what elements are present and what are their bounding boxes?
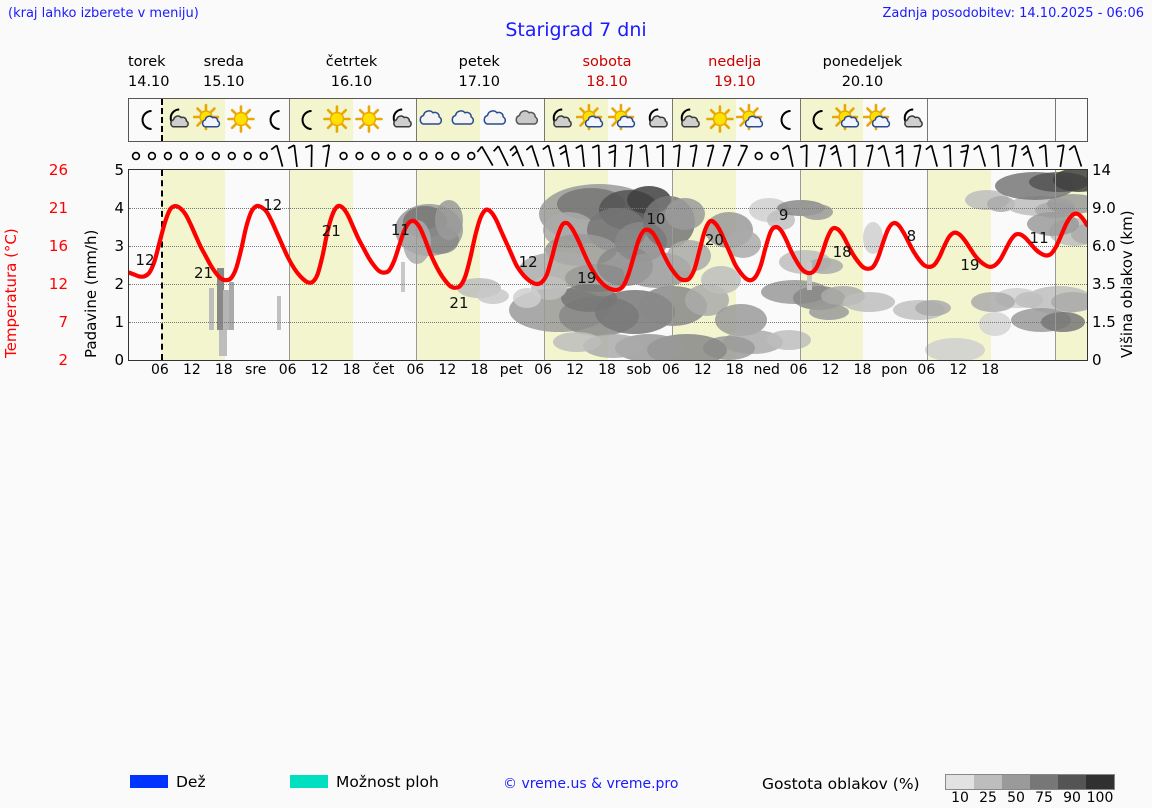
weather-icon-cell xyxy=(895,99,927,141)
temperature-max-label: 18 xyxy=(833,243,852,261)
time-tick-label: sob xyxy=(627,362,652,378)
page-title: Starigrad 7 dni xyxy=(0,19,1152,41)
sun-icon xyxy=(321,99,353,141)
day-header-ponedeljek: ponedeljek20.10 xyxy=(799,52,927,96)
sun-cloud-icon xyxy=(576,99,608,141)
temperature-tick: 2 xyxy=(58,351,68,369)
sun-icon xyxy=(353,99,385,141)
weather-icon-cell xyxy=(832,99,864,141)
weather-icon-cell xyxy=(480,99,512,141)
day-header-četrtek: četrtek16.10 xyxy=(288,52,416,96)
cloud-density-tick: 100 xyxy=(1087,790,1114,806)
time-tick-label: 18 xyxy=(215,362,233,378)
time-tick-label: 12 xyxy=(949,362,967,378)
day-name: petek xyxy=(415,52,543,72)
moon-icon xyxy=(768,99,800,141)
temperature-tick: 7 xyxy=(58,313,68,331)
time-tick-label: 18 xyxy=(343,362,361,378)
time-tick-label: 06 xyxy=(790,362,808,378)
day-header-sreda: sreda15.10 xyxy=(160,52,288,96)
moon-icon xyxy=(800,99,832,141)
day-date: 17.10 xyxy=(415,72,543,92)
precipitation-axis-ticks: 543210 xyxy=(104,169,124,361)
time-tick-label: 12 xyxy=(311,362,329,378)
moon-icon xyxy=(289,99,321,141)
time-tick-label: 18 xyxy=(726,362,744,378)
sun-cloud-icon xyxy=(863,99,895,141)
weather-icon-cell xyxy=(863,99,895,141)
weather-icon-cell xyxy=(353,99,385,141)
precipitation-tick: 0 xyxy=(114,351,124,369)
weather-icon-cell xyxy=(640,99,672,141)
time-tick-label: 06 xyxy=(917,362,935,378)
rain-legend-label: Dež xyxy=(176,773,206,791)
temperature-max-label: 21 xyxy=(194,264,213,282)
temperature-max-label: 21 xyxy=(449,294,468,312)
temperature-tick: 21 xyxy=(49,199,68,217)
time-tick-label: 12 xyxy=(566,362,584,378)
cloud-icon xyxy=(480,99,512,141)
day-date: 19.10 xyxy=(671,72,799,92)
cloud-icon xyxy=(416,99,448,141)
temperature-min-label: 10 xyxy=(646,210,665,228)
precipitation-axis-title: Padavine (mm/h) xyxy=(82,172,100,358)
temperature-min-label: 8 xyxy=(907,227,917,245)
weather-icon-cell xyxy=(736,99,768,141)
precipitation-tick: 5 xyxy=(114,161,124,179)
time-tick-label: 18 xyxy=(598,362,616,378)
moon-cloud-icon xyxy=(640,99,672,141)
cloud-density-tick: 50 xyxy=(1007,790,1025,806)
day-header-band: torek14.10sreda15.10četrtek16.10petek17.… xyxy=(128,52,1088,96)
temperature-min-label: 9 xyxy=(779,206,789,224)
cloud-density-tick: 75 xyxy=(1035,790,1053,806)
cloud-density-legend-title: Gostota oblakov (%) xyxy=(762,775,920,793)
temperature-min-label: 11 xyxy=(1030,229,1049,247)
moon-cloud-icon xyxy=(544,99,576,141)
cloud-height-tick: 1.5 xyxy=(1092,313,1116,331)
cloud-density-swatch xyxy=(974,775,1002,789)
day-name: sreda xyxy=(160,52,288,72)
day-name: četrtek xyxy=(288,52,416,72)
showers-legend-label: Možnost ploh xyxy=(336,773,439,791)
day-separator xyxy=(1055,99,1056,141)
cloud-density-tick: 10 xyxy=(951,790,969,806)
precipitation-tick: 3 xyxy=(114,237,124,255)
time-tick-label: 06 xyxy=(406,362,424,378)
day-header-petek: petek17.10 xyxy=(415,52,543,96)
legend: Dež Možnost ploh © vreme.us & vreme.pro … xyxy=(0,386,1152,436)
temperature-tick: 26 xyxy=(49,161,68,179)
precipitation-tick: 1 xyxy=(114,313,124,331)
moon-icon xyxy=(257,99,289,141)
day-separator xyxy=(416,99,417,141)
weather-icon-cell xyxy=(768,99,800,141)
day-date: 15.10 xyxy=(160,72,288,92)
time-tick-label: 06 xyxy=(279,362,297,378)
cloud-density-tick: 90 xyxy=(1063,790,1081,806)
day-date: 16.10 xyxy=(288,72,416,92)
weather-forecast-chart: (kraj lahko izberete v meniju) Starigrad… xyxy=(0,0,1152,443)
time-tick-label: 12 xyxy=(438,362,456,378)
cloud-height-tick: 0 xyxy=(1092,351,1102,369)
cloud-density-color-ramp xyxy=(945,774,1115,790)
temperature-max-label: 19 xyxy=(577,269,596,287)
temperature-min-label: 11 xyxy=(391,221,410,239)
day-separator xyxy=(927,99,928,141)
time-tick-label: sre xyxy=(245,362,266,378)
weather-icon-cell xyxy=(321,99,353,141)
temperature-tick: 16 xyxy=(49,237,68,255)
weather-icon-cell xyxy=(608,99,640,141)
weather-icon-cell xyxy=(416,99,448,141)
day-name: nedelja xyxy=(671,52,799,72)
temperature-axis-ticks: 2621161272 xyxy=(28,169,68,361)
day-date: 14.10 xyxy=(128,72,160,92)
precipitation-tick: 4 xyxy=(114,199,124,217)
weather-icon-band xyxy=(128,98,1088,142)
time-tick-label: 06 xyxy=(151,362,169,378)
showers-color-swatch xyxy=(290,775,328,788)
temperature-min-label: 12 xyxy=(135,251,154,269)
weather-icon-cell xyxy=(448,99,480,141)
cloud-density-swatch xyxy=(1058,775,1086,789)
temperature-min-label: 12 xyxy=(263,196,282,214)
sun-cloud-icon xyxy=(832,99,864,141)
temperature-tick: 12 xyxy=(49,275,68,293)
forecast-plot-area: 1221122111211219102091881911 xyxy=(128,169,1088,361)
cloud-density-tick: 25 xyxy=(979,790,997,806)
temperature-max-label: 19 xyxy=(960,256,979,274)
day-name: ponedeljek xyxy=(799,52,927,72)
cloud-density-swatch xyxy=(1002,775,1030,789)
cloud-height-tick: 9.0 xyxy=(1092,199,1116,217)
time-tick-label: 18 xyxy=(470,362,488,378)
time-axis-labels: 061218sre061218čet061218pet061218sob0612… xyxy=(128,362,1088,382)
day-name: sobota xyxy=(543,52,671,72)
time-tick-label: ned xyxy=(753,362,779,378)
weather-icon-cell xyxy=(193,99,225,141)
time-tick-label: 12 xyxy=(822,362,840,378)
precipitation-tick: 2 xyxy=(114,275,124,293)
day-date: 20.10 xyxy=(799,72,927,92)
moon-icon xyxy=(129,99,161,141)
sun-icon xyxy=(704,99,736,141)
sun-cloud-icon xyxy=(193,99,225,141)
time-tick-label: pon xyxy=(881,362,907,378)
time-tick-label: 06 xyxy=(662,362,680,378)
day-separator xyxy=(161,99,163,141)
cloud-height-tick: 14 xyxy=(1092,161,1111,179)
time-tick-label: 12 xyxy=(694,362,712,378)
cloud-grey-icon xyxy=(512,99,544,141)
moon-cloud-icon xyxy=(384,99,416,141)
moon-cloud-icon xyxy=(672,99,704,141)
time-tick-label: čet xyxy=(373,362,395,378)
day-separator xyxy=(800,99,801,141)
weather-icon-cell xyxy=(544,99,576,141)
day-header-torek: torek14.10 xyxy=(128,52,160,96)
temperature-max-label: 21 xyxy=(322,222,341,240)
day-separator xyxy=(289,99,290,141)
sun-cloud-icon xyxy=(736,99,768,141)
weather-icon-cell xyxy=(704,99,736,141)
time-tick-label: 06 xyxy=(534,362,552,378)
time-tick-label: 18 xyxy=(854,362,872,378)
cloud-height-tick: 6.0 xyxy=(1092,237,1116,255)
day-separator xyxy=(544,99,545,141)
cloud-height-axis-ticks: 149.06.03.51.50 xyxy=(1092,169,1126,361)
wind-barb-band xyxy=(128,143,1088,169)
day-header-sobota: sobota18.10 xyxy=(543,52,671,96)
cloud-density-swatch xyxy=(1030,775,1058,789)
cloud-height-tick: 3.5 xyxy=(1092,275,1116,293)
cloud-density-tick-labels: 1025507590100 xyxy=(940,790,1120,808)
time-tick-label: pet xyxy=(500,362,523,378)
time-tick-label: 18 xyxy=(981,362,999,378)
weather-icon-cell xyxy=(161,99,193,141)
weather-icon-cell xyxy=(257,99,289,141)
weather-icon-cell xyxy=(512,99,544,141)
copyright-text: © vreme.us & vreme.pro xyxy=(503,776,678,792)
rain-color-swatch xyxy=(130,775,168,788)
temperature-max-label: 20 xyxy=(705,231,724,249)
moon-cloud-icon xyxy=(895,99,927,141)
temperature-axis-title: Temperatura (°C) xyxy=(2,172,20,358)
time-tick-label: 12 xyxy=(183,362,201,378)
weather-icon-cell xyxy=(129,99,161,141)
day-name: torek xyxy=(128,52,160,72)
weather-icon-cell xyxy=(576,99,608,141)
weather-icon-cell xyxy=(672,99,704,141)
cloud-density-swatch xyxy=(1086,775,1114,789)
weather-icon-cell xyxy=(800,99,832,141)
weather-icon-cell xyxy=(225,99,257,141)
wind-barbs xyxy=(128,143,1086,169)
day-date: 18.10 xyxy=(543,72,671,92)
moon-cloud-icon xyxy=(161,99,193,141)
temperature-min-label: 12 xyxy=(519,253,538,271)
last-updated: Zadnja posodobitev: 14.10.2025 - 06:06 xyxy=(882,6,1144,21)
cloud-density-swatch xyxy=(946,775,974,789)
day-header-nedelja: nedelja19.10 xyxy=(671,52,799,96)
cloud-icon xyxy=(448,99,480,141)
day-separator xyxy=(672,99,673,141)
sun-icon xyxy=(225,99,257,141)
weather-icon-cell xyxy=(384,99,416,141)
weather-icon-cell xyxy=(289,99,321,141)
sun-cloud-icon xyxy=(608,99,640,141)
